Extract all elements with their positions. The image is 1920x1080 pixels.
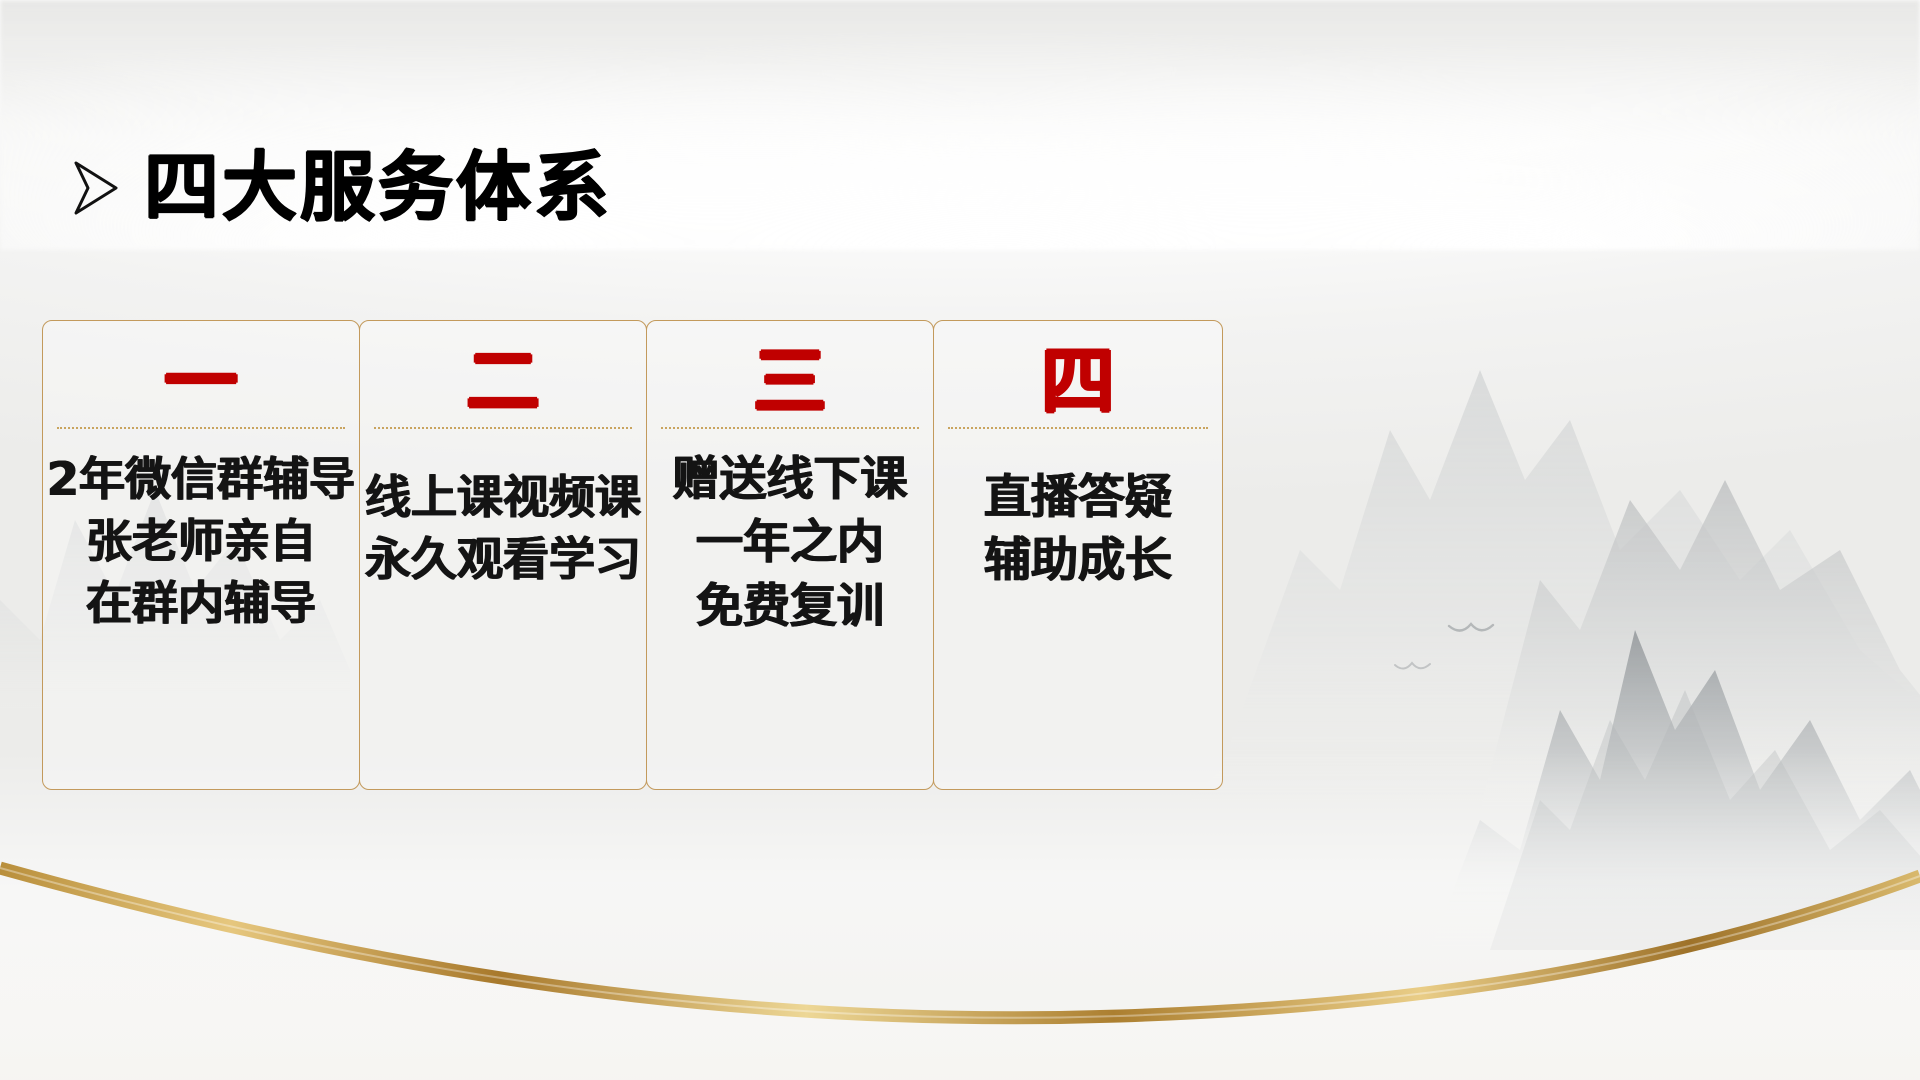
card-body-3: 赠送线下课 一年之内 免费复训 bbox=[647, 451, 933, 635]
card-line: 张老师亲自 bbox=[86, 513, 316, 569]
service-card-2[interactable]: 二 线上课视频课 永久观看学习 bbox=[359, 320, 647, 790]
card-divider-2 bbox=[374, 427, 632, 429]
card-line: 直播答疑 bbox=[984, 469, 1172, 526]
page-title: 四大服务体系 bbox=[144, 150, 612, 225]
service-cards-row: 一 2年微信群辅导 张老师亲自 在群内辅导 二 线上课视频课 永久观看学习 三 … bbox=[42, 320, 1232, 790]
card-line: 赠送线下课 bbox=[673, 451, 908, 508]
slide-canvas: 四大服务体系 一 2年微信群辅导 张老师亲自 在群内辅导 二 线上课视频课 永久… bbox=[0, 0, 1920, 1080]
card-line: 一年之内 bbox=[696, 514, 884, 571]
card-body-4: 直播答疑 辅助成长 bbox=[934, 469, 1222, 590]
card-body-2: 线上课视频课 永久观看学习 bbox=[360, 469, 646, 587]
card-body-1: 2年微信群辅导 张老师亲自 在群内辅导 bbox=[43, 451, 359, 631]
card-divider-1 bbox=[57, 427, 345, 429]
page-title-row: 四大服务体系 bbox=[70, 150, 612, 225]
card-line: 线上课视频课 bbox=[365, 469, 641, 525]
arrow-triangle-bullet-icon bbox=[70, 157, 122, 219]
card-line: 免费复训 bbox=[696, 578, 884, 635]
card-line: 辅助成长 bbox=[984, 532, 1172, 589]
card-divider-4 bbox=[948, 427, 1208, 429]
card-divider-3 bbox=[661, 427, 919, 429]
card-line: 在群内辅导 bbox=[86, 575, 316, 631]
card-line: 2年微信群辅导 bbox=[47, 451, 355, 507]
service-card-3[interactable]: 三 赠送线下课 一年之内 免费复训 bbox=[646, 320, 934, 790]
card-numeral-1: 一 bbox=[164, 339, 238, 425]
card-numeral-2: 二 bbox=[466, 339, 540, 425]
card-numeral-4: 四 bbox=[1041, 339, 1115, 425]
service-card-4[interactable]: 四 直播答疑 辅助成长 bbox=[933, 320, 1223, 790]
card-numeral-3: 三 bbox=[753, 339, 827, 425]
gold-wave-decoration bbox=[0, 780, 1920, 1080]
service-card-1[interactable]: 一 2年微信群辅导 张老师亲自 在群内辅导 bbox=[42, 320, 360, 790]
card-line: 永久观看学习 bbox=[365, 531, 641, 587]
